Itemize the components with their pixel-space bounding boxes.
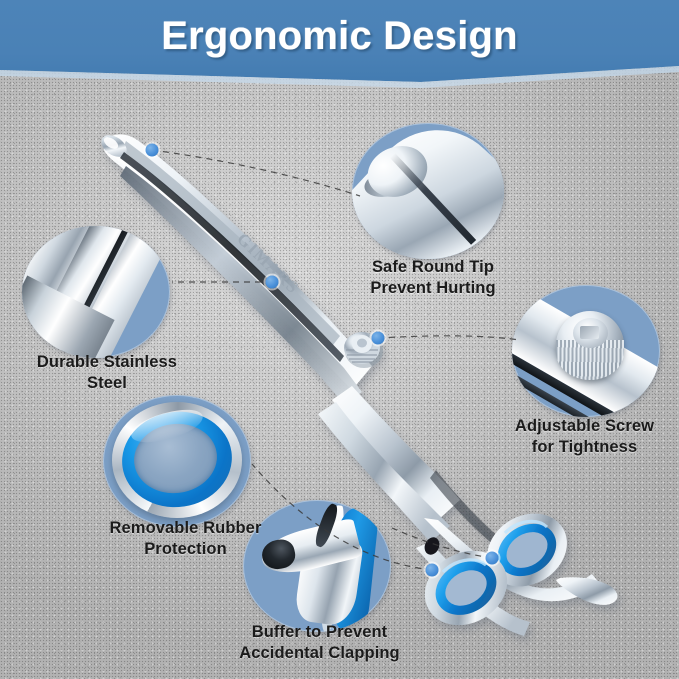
anchor-dot-buffer[interactable] [486,552,499,565]
callout-label-removable-rubber-protection: Removable Rubber Protection [78,518,293,561]
connector-buffer [392,528,492,558]
connector-adjustable-screw [378,336,520,340]
anchor-dot-durable-stainless-steel[interactable] [266,276,279,289]
callout-label-adjustable-screw: Adjustable Screw for Tightness [490,416,679,459]
callout-label-durable-stainless-steel: Durable Stainless Steel [0,352,214,395]
callout-label-buffer: Buffer to Prevent Accidental Clapping [212,622,427,665]
connector-safe-round-tip [152,150,360,196]
page-title: Ergonomic Design [0,14,679,59]
callout-label-safe-round-tip: Safe Round Tip Prevent Hurting [333,257,533,300]
anchor-dot-adjustable-screw[interactable] [372,332,385,345]
infographic-canvas: GIMARS [0,0,679,679]
anchor-dot-safe-round-tip[interactable] [146,144,159,157]
callout-connector-lines [0,0,679,679]
anchor-dot-removable-rubber-protection[interactable] [426,564,439,577]
